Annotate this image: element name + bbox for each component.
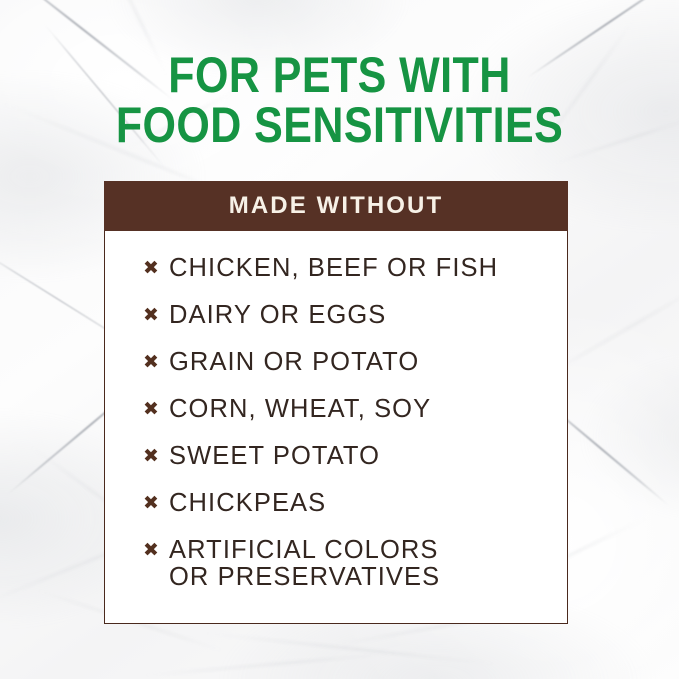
cross-mark-icon: ✖ — [143, 349, 169, 376]
list-item-label: DAIRY OR EGGS — [169, 302, 386, 329]
list-item-label: CHICKEN, BEEF OR FISH — [169, 255, 498, 282]
list-item: ✖ CHICKPEAS — [143, 490, 549, 537]
list-item: ✖ CHICKEN, BEEF OR FISH — [143, 255, 549, 302]
list-item-label: SWEET POTATO — [169, 443, 380, 470]
card-header-title: MADE WITHOUT — [229, 192, 444, 220]
list-item-label: GRAIN OR POTATO — [169, 349, 419, 376]
made-without-card: MADE WITHOUT ✖ CHICKEN, BEEF OR FISH ✖ D… — [104, 181, 568, 624]
list-item-label: CHICKPEAS — [169, 490, 326, 517]
headline-line-2: FOOD SENSITIVITIES — [48, 100, 632, 150]
headline-line-1: FOR PETS WITH — [48, 50, 632, 100]
promo-graphic: FOR PETS WITH FOOD SENSITIVITIES MADE WI… — [0, 0, 679, 679]
cross-mark-icon: ✖ — [143, 396, 169, 423]
list-item: ✖ SWEET POTATO — [143, 443, 549, 490]
cross-mark-icon: ✖ — [143, 490, 169, 517]
list-item: ✖ CORN, WHEAT, SOY — [143, 396, 549, 443]
list-item: ✖ ARTIFICIAL COLORS OR PRESERVATIVES — [143, 537, 549, 591]
list-item: ✖ GRAIN OR POTATO — [143, 349, 549, 396]
excluded-ingredients-list: ✖ CHICKEN, BEEF OR FISH ✖ DAIRY OR EGGS … — [105, 255, 567, 591]
card-header: MADE WITHOUT — [104, 181, 568, 231]
headline: FOR PETS WITH FOOD SENSITIVITIES — [0, 50, 679, 150]
list-item-label: ARTIFICIAL COLORS OR PRESERVATIVES — [169, 537, 440, 591]
cross-mark-icon: ✖ — [143, 443, 169, 470]
card-body: ✖ CHICKEN, BEEF OR FISH ✖ DAIRY OR EGGS … — [105, 231, 567, 591]
cross-mark-icon: ✖ — [143, 302, 169, 329]
cross-mark-icon: ✖ — [143, 255, 169, 282]
list-item-label: CORN, WHEAT, SOY — [169, 396, 431, 423]
list-item: ✖ DAIRY OR EGGS — [143, 302, 549, 349]
cross-mark-icon: ✖ — [143, 537, 169, 564]
